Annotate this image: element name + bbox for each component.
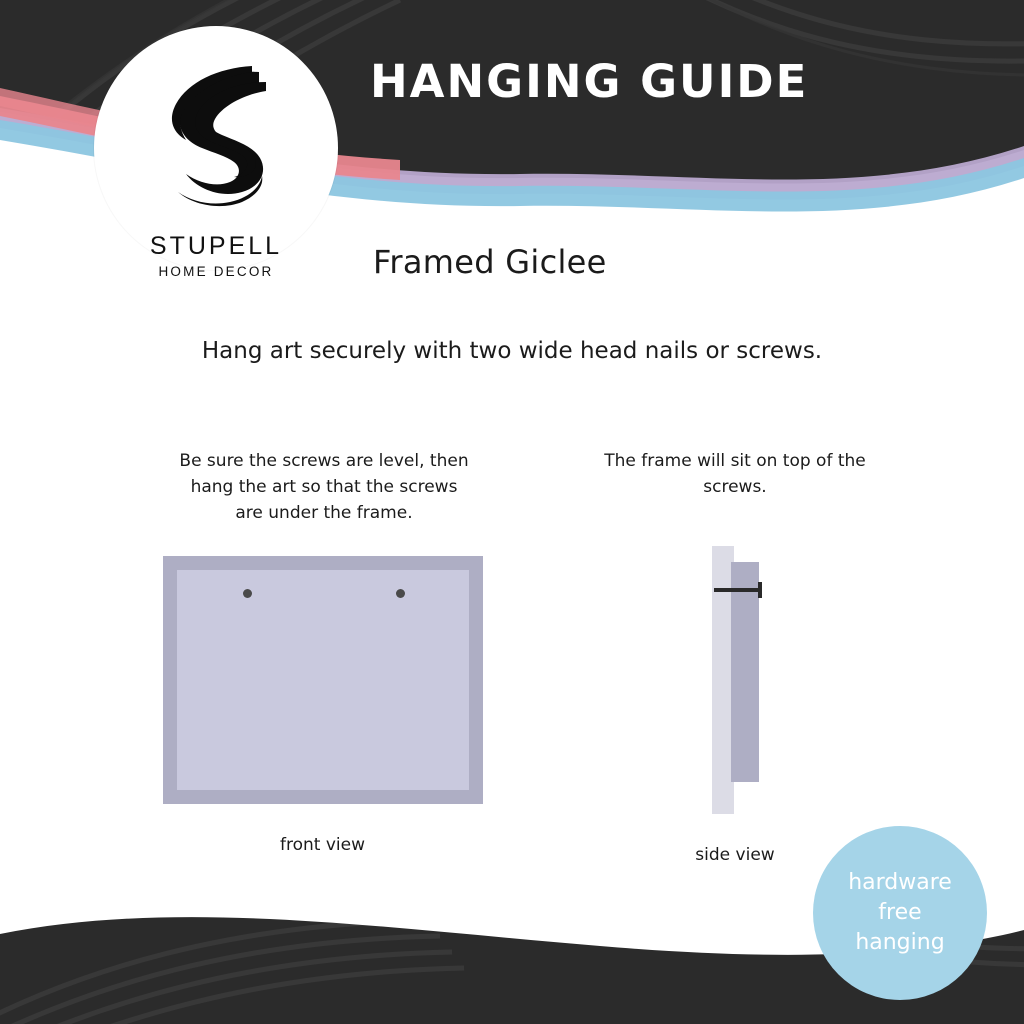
badge-text: hardware free hanging — [848, 868, 952, 958]
logo-brand-name: STUPELL — [94, 232, 338, 261]
hanging-guide-page: HANGING GUIDE STUPELL HOME DECOR Framed … — [0, 0, 1024, 1024]
badge-line-2: free — [848, 898, 952, 928]
stupell-swirl-logo-icon — [156, 64, 276, 218]
screw-left-icon — [243, 589, 252, 598]
front-view-diagram — [163, 556, 483, 804]
screw-shaft-icon — [714, 588, 762, 592]
screw-head-icon — [758, 582, 762, 598]
side-view-caption: The frame will sit on top of the screws. — [600, 448, 870, 500]
front-view-label: front view — [190, 835, 455, 855]
screw-right-icon — [396, 589, 405, 598]
side-view-label: side view — [620, 845, 850, 865]
product-type: Framed Giclee — [373, 243, 607, 281]
badge-line-1: hardware — [848, 868, 952, 898]
hardware-free-badge: hardware free hanging — [813, 826, 987, 1000]
main-instruction: Hang art securely with two wide head nai… — [0, 338, 1024, 364]
frame-profile-shape — [731, 562, 759, 782]
page-title: HANGING GUIDE — [370, 55, 808, 108]
badge-line-3: hanging — [848, 928, 952, 958]
front-view-art-area — [177, 570, 469, 790]
front-view-caption: Be sure the screws are level, then hang … — [178, 448, 470, 526]
brand-logo: STUPELL HOME DECOR — [94, 26, 338, 270]
logo-brand-subtitle: HOME DECOR — [94, 264, 338, 279]
side-view-diagram — [700, 546, 810, 814]
